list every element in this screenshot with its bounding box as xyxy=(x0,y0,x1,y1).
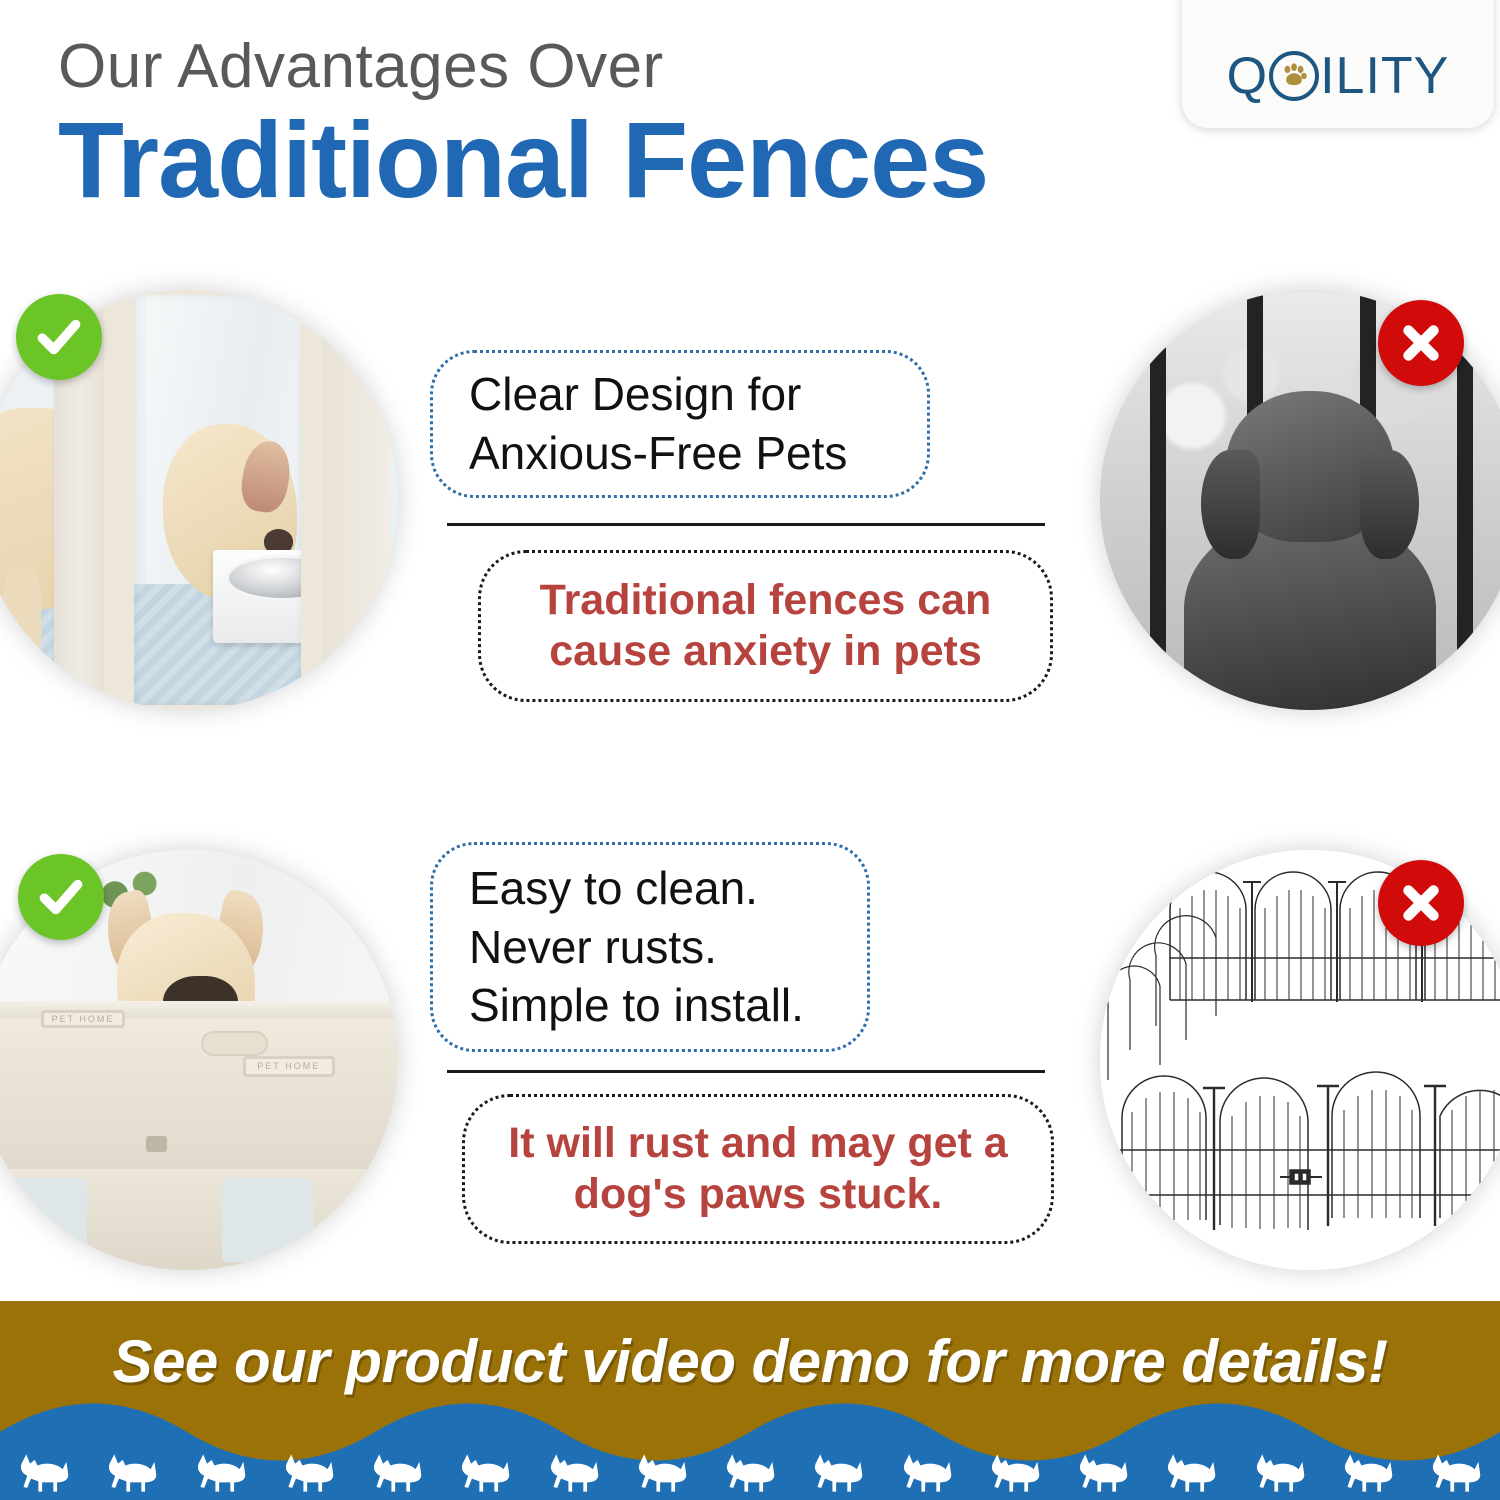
video-demo-banner[interactable]: See our product video demo for more deta… xyxy=(0,1301,1500,1500)
walking-cat-icon xyxy=(987,1450,1043,1496)
pro-callout-2-text: Easy to clean. Never rusts. Simple to in… xyxy=(469,859,804,1036)
page-header: Our Advantages Over Traditional Fences xyxy=(0,0,1190,270)
walking-cat-icon xyxy=(546,1450,602,1496)
logo-wordmark: Q ILITY xyxy=(1227,50,1450,102)
row-divider-1 xyxy=(447,523,1045,526)
walking-cat-icon xyxy=(899,1450,955,1496)
pen-label-1: PET HOME xyxy=(41,1010,125,1029)
logo-letters-ility: ILITY xyxy=(1320,50,1449,102)
pro-callout-2: Easy to clean. Never rusts. Simple to in… xyxy=(430,842,870,1052)
walking-cat-icon xyxy=(457,1450,513,1496)
walking-cat-icon xyxy=(1075,1450,1131,1496)
cross-icon xyxy=(1378,860,1464,946)
walking-cat-icon xyxy=(1428,1450,1484,1496)
walking-cat-icon xyxy=(281,1450,337,1496)
page-title: Traditional Fences xyxy=(58,105,1190,215)
walking-cat-icon xyxy=(634,1450,690,1496)
logo-letter-q: Q xyxy=(1227,50,1268,102)
pen-label-2: PET HOME xyxy=(243,1056,335,1077)
pro-callout-1: Clear Design for Anxious-Free Pets xyxy=(430,350,930,498)
con-callout-2: It will rust and may get a dog's paws st… xyxy=(462,1094,1054,1244)
brand-logo: Q ILITY xyxy=(1182,0,1494,128)
comparison-row-2: PET HOME PET HOME Easy to clean. Never r… xyxy=(0,832,1500,1302)
banner-text: See our product video demo for more deta… xyxy=(0,1327,1500,1396)
walking-cat-icon xyxy=(369,1450,425,1496)
paw-print-icon xyxy=(1269,51,1319,101)
walking-cat-icon xyxy=(193,1450,249,1496)
cross-icon xyxy=(1378,300,1464,386)
pro-callout-1-text: Clear Design for Anxious-Free Pets xyxy=(469,365,847,483)
walking-cat-icon xyxy=(16,1450,72,1496)
con-callout-1: Traditional fences can cause anxiety in … xyxy=(478,550,1053,702)
walking-cat-icon xyxy=(722,1450,778,1496)
walking-cat-icon xyxy=(104,1450,160,1496)
walking-cat-icon xyxy=(1163,1450,1219,1496)
walking-cat-icon xyxy=(1252,1450,1308,1496)
infographic-page: Our Advantages Over Traditional Fences Q… xyxy=(0,0,1500,1500)
row-divider-2 xyxy=(447,1070,1045,1073)
walking-cat-icon xyxy=(1340,1450,1396,1496)
check-icon xyxy=(16,294,102,380)
walking-cat-icon xyxy=(810,1450,866,1496)
headline-subtitle: Our Advantages Over xyxy=(58,34,1190,99)
con-callout-1-text: Traditional fences can cause anxiety in … xyxy=(511,575,1020,676)
comparison-row-1: Clear Design for Anxious-Free Pets Tradi… xyxy=(0,272,1500,742)
check-icon xyxy=(18,854,104,940)
con-callout-2-text: It will rust and may get a dog's paws st… xyxy=(495,1118,1021,1219)
cat-icon-strip xyxy=(0,1434,1500,1496)
